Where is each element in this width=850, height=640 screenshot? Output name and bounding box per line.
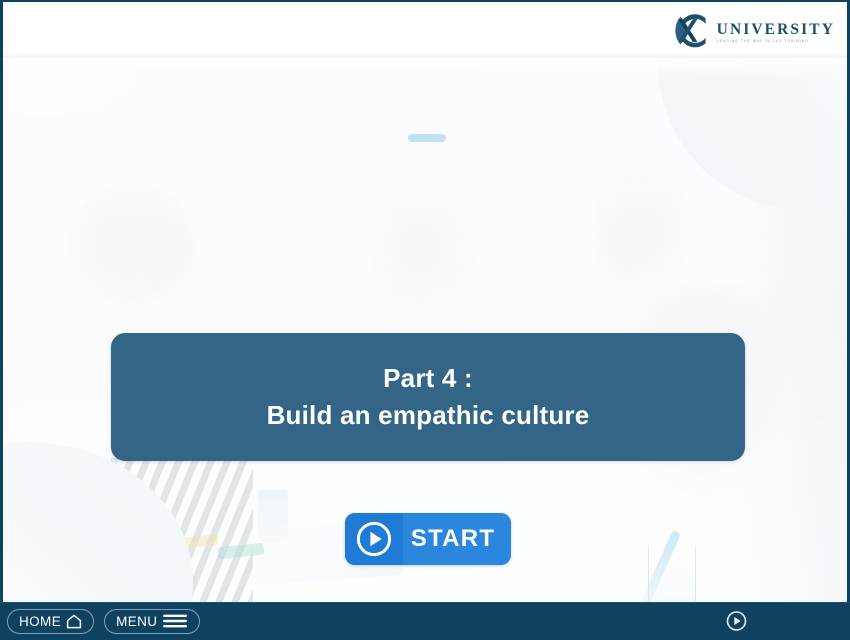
photo-prop-striped-shirt <box>63 458 253 602</box>
start-icon-container <box>345 513 403 565</box>
menu-button[interactable]: MENU <box>104 609 200 634</box>
title-card: Part 4 : Build an empathic culture <box>111 333 745 461</box>
slide-header: UNIVERSITY LEADING THE WAY IN L&D TRAINI… <box>3 2 847 58</box>
title-part-number: Part 4 : <box>383 360 473 397</box>
university-logo: UNIVERSITY LEADING THE WAY IN L&D TRAINI… <box>672 12 835 50</box>
logo-tagline: LEADING THE WAY IN L&D TRAINING <box>717 40 835 43</box>
stage-top-sheen <box>3 58 847 76</box>
start-button[interactable]: START <box>345 513 511 565</box>
photo-prop-blue-marker <box>408 134 446 142</box>
home-button[interactable]: HOME <box>7 609 94 634</box>
home-icon <box>66 614 82 629</box>
start-button-label: START <box>403 525 511 553</box>
play-circle-outline-icon[interactable] <box>726 611 747 632</box>
logo-name: UNIVERSITY <box>717 22 835 38</box>
x-in-c-monogram-icon <box>672 13 714 49</box>
photo-prop-glass <box>258 490 288 542</box>
logo-wordmark: UNIVERSITY LEADING THE WAY IN L&D TRAINI… <box>717 19 835 43</box>
title-heading: Build an empathic culture <box>267 397 590 434</box>
hamburger-menu-icon <box>162 613 188 629</box>
play-circle-icon <box>355 520 393 558</box>
slide-stage: Part 4 : Build an empathic culture START <box>3 58 847 602</box>
course-slide: UNIVERSITY LEADING THE WAY IN L&D TRAINI… <box>0 0 850 640</box>
menu-button-label: MENU <box>116 614 157 629</box>
bottom-navigation-bar: HOME MENU <box>0 602 850 640</box>
home-button-label: HOME <box>19 614 61 629</box>
